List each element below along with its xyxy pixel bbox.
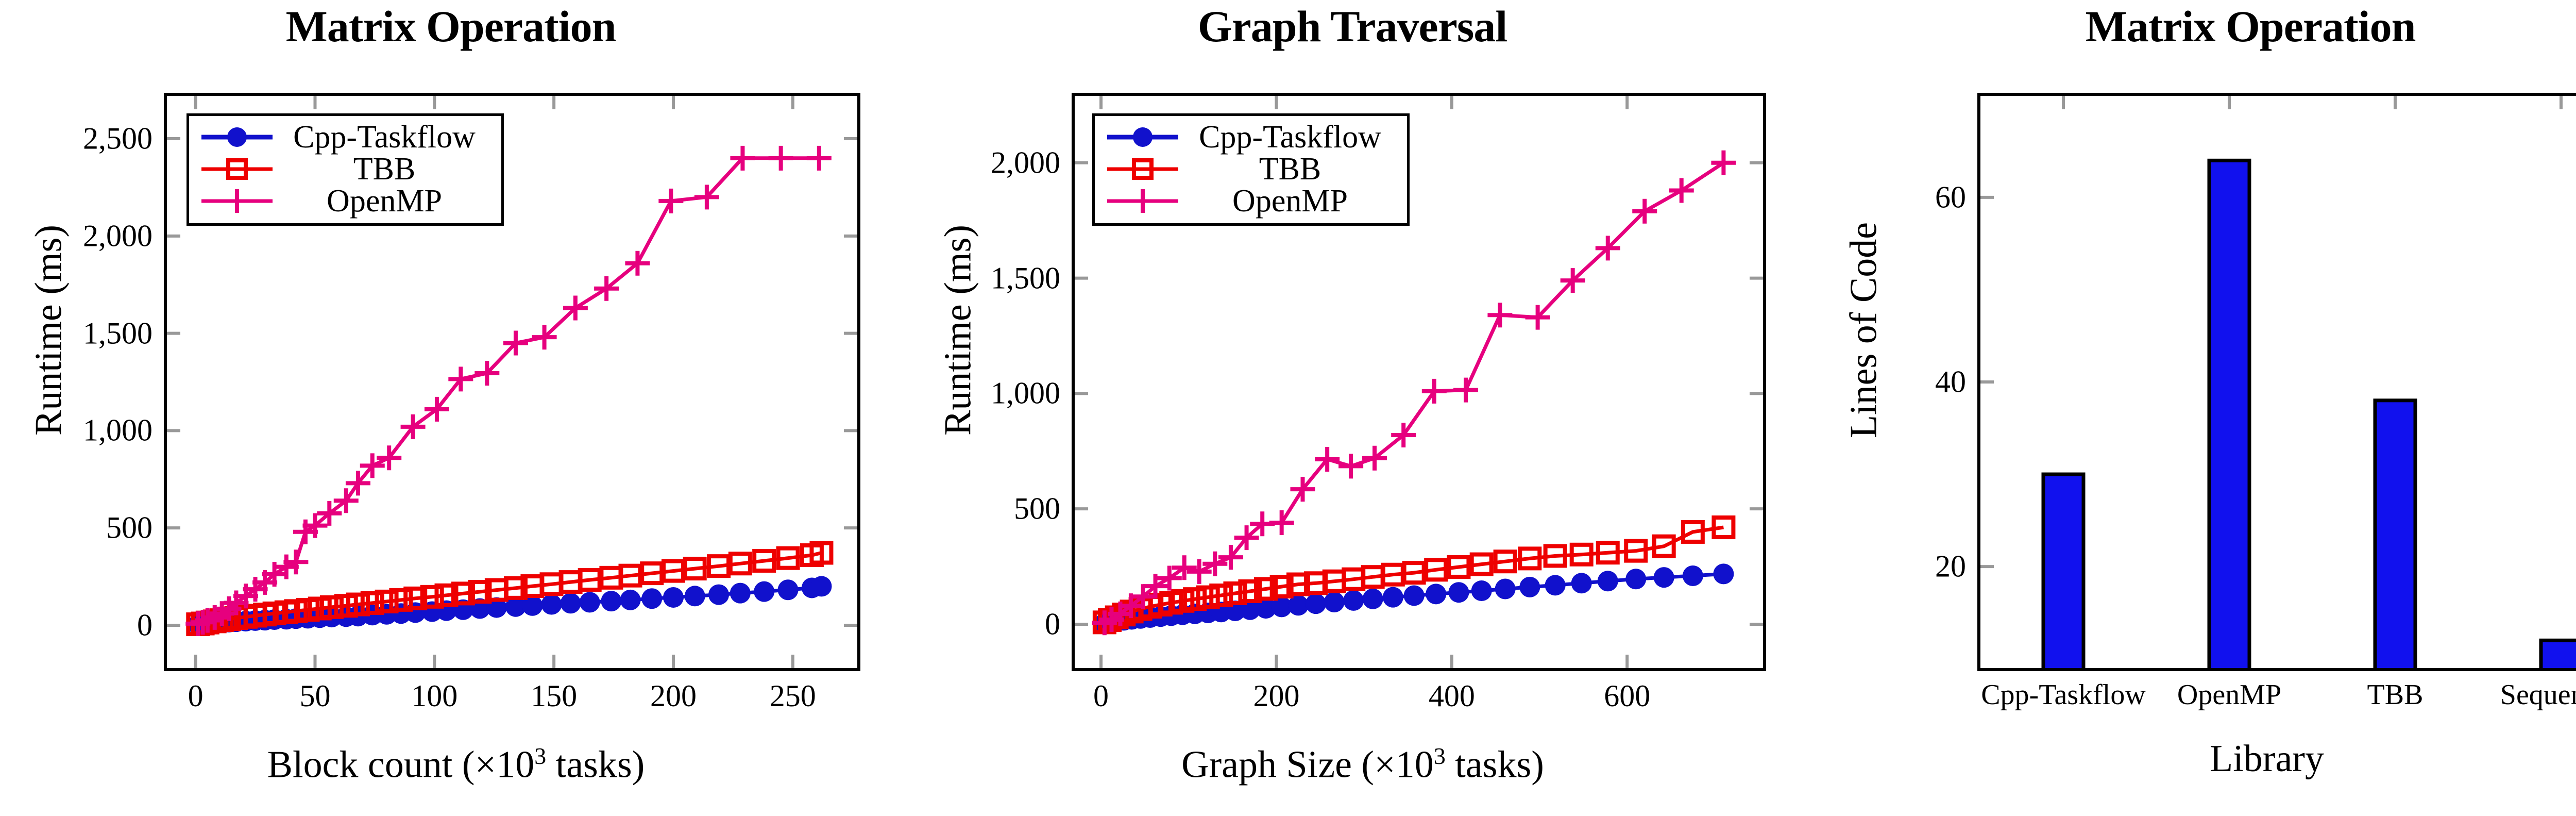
y-tick-label: 1,500 bbox=[0, 315, 152, 351]
x-tick-label: 150 bbox=[531, 678, 577, 714]
category-tick-label: Cpp-Taskflow bbox=[1981, 678, 2146, 711]
legend-item-cpp-taskflow: Cpp-Taskflow bbox=[198, 121, 492, 153]
y-tick-label: 40 bbox=[1803, 364, 1966, 400]
x-axis-label-tail: tasks) bbox=[1446, 744, 1544, 786]
x-axis-label-tail: tasks) bbox=[546, 744, 645, 786]
y-axis-label: Runtime (ms) bbox=[937, 176, 980, 485]
legend-label: TBB bbox=[276, 153, 492, 185]
y-tick-label: 500 bbox=[0, 510, 152, 546]
panel-graph-traversal-runtime: Graph Traversal Runtime (ms) Graph Size … bbox=[902, 0, 1803, 816]
legend-marker-plus-icon bbox=[1104, 185, 1181, 217]
y-tick-label: 1,500 bbox=[902, 260, 1060, 296]
x-tick-label: 0 bbox=[1093, 678, 1109, 714]
x-tick-label: 0 bbox=[188, 678, 204, 714]
x-tick-label: 200 bbox=[650, 678, 697, 714]
x-tick-label: 200 bbox=[1253, 678, 1299, 714]
legend-label: Cpp-Taskflow bbox=[1181, 121, 1398, 153]
legend-marker-open-square-icon bbox=[198, 153, 276, 185]
x-axis-label-exponent: 3 bbox=[1434, 743, 1446, 769]
y-tick-label: 60 bbox=[1803, 179, 1966, 215]
legend-item-tbb: TBB bbox=[198, 153, 492, 185]
panel-matrix-operation-loc: Matrix Operation Lines of Code Library 2… bbox=[1803, 0, 2576, 816]
plot-area bbox=[1977, 93, 2576, 671]
legend-marker-open-square-icon bbox=[1104, 153, 1181, 185]
legend-item-cpp-taskflow: Cpp-Taskflow bbox=[1104, 121, 1398, 153]
legend-label: OpenMP bbox=[276, 185, 492, 217]
y-tick-label: 0 bbox=[902, 606, 1060, 642]
x-tick-label: 250 bbox=[770, 678, 816, 714]
chart-title: Matrix Operation bbox=[1803, 3, 2576, 49]
legend: Cpp-Taskflow TBB OpenMP bbox=[1092, 113, 1410, 226]
legend-label: Cpp-Taskflow bbox=[276, 121, 492, 153]
bar bbox=[2541, 640, 2576, 668]
legend-marker-filled-circle-icon bbox=[198, 121, 276, 153]
y-tick-label: 20 bbox=[1803, 549, 1966, 585]
x-axis-label-base: Block count (×10 bbox=[267, 744, 535, 786]
legend-item-tbb: TBB bbox=[1104, 153, 1398, 185]
x-axis-label: Graph Size (×103 tasks) bbox=[989, 742, 1736, 787]
x-tick-label: 50 bbox=[299, 678, 330, 714]
panel-matrix-operation-runtime: Matrix Operation Runtime (ms) Block coun… bbox=[0, 0, 902, 816]
y-tick-label: 1,000 bbox=[0, 413, 152, 448]
legend: Cpp-Taskflow TBB OpenMP bbox=[187, 113, 504, 226]
legend-item-openmp: OpenMP bbox=[198, 185, 492, 217]
x-axis-label-exponent: 3 bbox=[534, 743, 546, 769]
x-tick-label: 100 bbox=[411, 678, 457, 714]
legend-label: TBB bbox=[1181, 153, 1398, 185]
bar bbox=[2043, 474, 2083, 668]
bar bbox=[2209, 160, 2249, 668]
y-tick-label: 2,000 bbox=[0, 218, 152, 254]
x-tick-label: 400 bbox=[1429, 678, 1475, 714]
legend-label: OpenMP bbox=[1181, 185, 1398, 217]
plot-area: Cpp-Taskflow TBB OpenMP bbox=[1072, 93, 1766, 671]
y-tick-label: 2,000 bbox=[902, 145, 1060, 180]
category-tick-label: OpenMP bbox=[2177, 678, 2281, 711]
category-tick-label: TBB bbox=[2367, 678, 2424, 711]
figure-panel-row: Matrix Operation Runtime (ms) Block coun… bbox=[0, 0, 2576, 816]
bar bbox=[2375, 401, 2415, 668]
y-tick-label: 1,000 bbox=[902, 376, 1060, 411]
x-axis-label: Library bbox=[1906, 737, 2576, 781]
y-tick-label: 0 bbox=[0, 607, 152, 643]
x-axis-label: Block count (×103 tasks) bbox=[82, 742, 829, 787]
chart-title: Graph Traversal bbox=[902, 3, 1803, 49]
x-tick-label: 600 bbox=[1604, 678, 1650, 714]
legend-item-openmp: OpenMP bbox=[1104, 185, 1398, 217]
chart-title: Matrix Operation bbox=[0, 3, 902, 49]
category-tick-label: Sequential bbox=[2500, 678, 2576, 711]
x-axis-label-base: Graph Size (×10 bbox=[1181, 744, 1434, 786]
y-tick-label: 500 bbox=[902, 491, 1060, 527]
legend-marker-filled-circle-icon bbox=[1104, 121, 1181, 153]
plot-area: Cpp-Taskflow TBB OpenMP bbox=[164, 93, 860, 671]
legend-marker-plus-icon bbox=[198, 185, 276, 217]
y-tick-label: 2,500 bbox=[0, 121, 152, 157]
